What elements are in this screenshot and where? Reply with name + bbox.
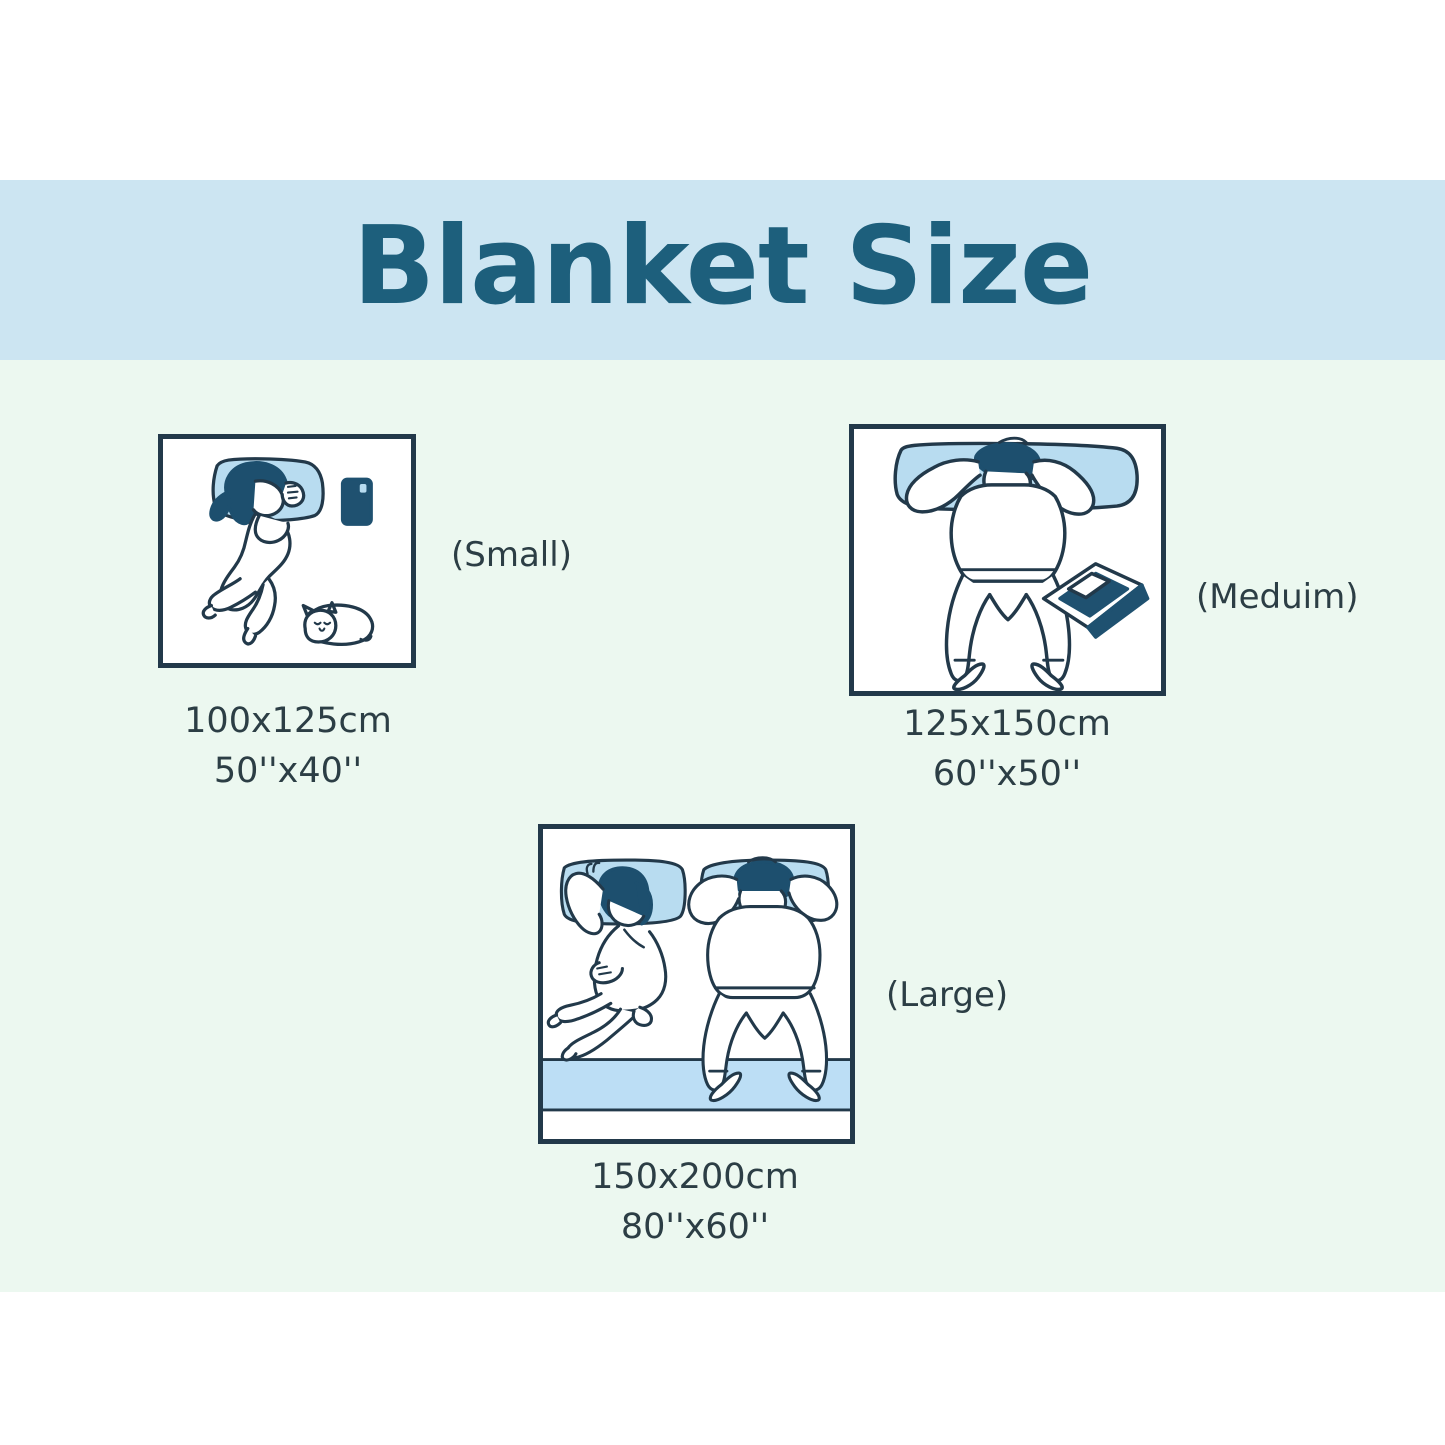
leg-gap-medium bbox=[990, 595, 1027, 620]
illustration-small bbox=[163, 439, 411, 663]
size-dimension-cm-large: 150x200cm bbox=[591, 1157, 799, 1197]
size-dimensions-medium: 125x150cm 60''x50'' bbox=[857, 700, 1157, 799]
hair-tuft-medium bbox=[999, 438, 1026, 442]
wave-divider bbox=[0, 355, 1445, 415]
phone-small bbox=[343, 479, 372, 524]
size-dimensions-small: 100x125cm 50''x40'' bbox=[138, 697, 438, 796]
size-dimension-in-large: 80''x60'' bbox=[545, 1203, 845, 1253]
foot-c-woman-large bbox=[633, 1007, 651, 1025]
size-box-medium bbox=[849, 424, 1166, 696]
leg-upper-woman-large bbox=[556, 994, 611, 1022]
size-dimension-cm-medium: 125x150cm bbox=[903, 704, 1111, 744]
size-box-small bbox=[158, 434, 416, 668]
size-dimensions-large: 150x200cm 80''x60'' bbox=[545, 1153, 845, 1252]
torso-medium bbox=[951, 485, 1065, 581]
size-dimension-cm-small: 100x125cm bbox=[184, 701, 392, 741]
illustration-medium bbox=[854, 429, 1161, 691]
arm-up-woman-large bbox=[566, 873, 603, 933]
size-box-large bbox=[538, 824, 855, 1144]
illustration-large bbox=[543, 829, 850, 1139]
size-dimension-in-small: 50''x40'' bbox=[138, 747, 438, 797]
size-dimension-in-medium: 60''x50'' bbox=[857, 750, 1157, 800]
size-tag-medium: (Meduim) bbox=[1196, 577, 1358, 617]
torso-man-large bbox=[708, 907, 820, 998]
leg-gap-man-large bbox=[746, 1013, 783, 1038]
blanket-size-poster: Blanket Size bbox=[0, 0, 1445, 1445]
size-tag-small: (Small) bbox=[451, 535, 572, 575]
page-title: Blanket Size bbox=[0, 208, 1445, 327]
size-tag-large: (Large) bbox=[886, 975, 1008, 1015]
